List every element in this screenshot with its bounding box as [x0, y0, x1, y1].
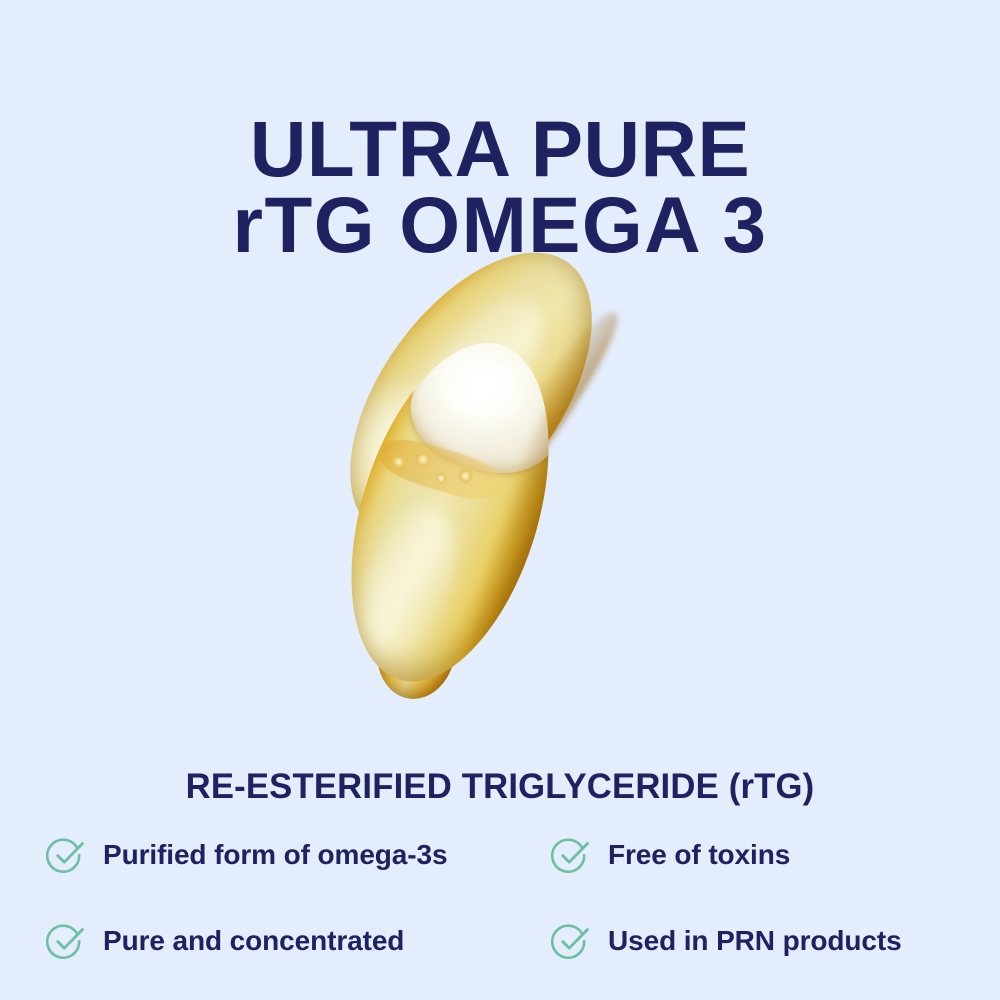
check-circle-icon — [46, 921, 86, 961]
benefit-item-4: Used in PRN products — [551, 921, 962, 961]
check-circle-icon — [551, 921, 591, 961]
benefit-item-1: Purified form of omega-3s — [46, 835, 551, 875]
product-info-graphic: ULTRA PURE rTG OMEGA 3 RE-ESTERIFIED TRI… — [0, 0, 1000, 1000]
benefit-item-2: Free of toxins — [551, 835, 962, 875]
headline-line-1: ULTRA PURE — [5, 111, 995, 187]
subtitle: RE-ESTERIFIED TRIGLYCERIDE (rTG) — [5, 767, 995, 807]
benefit-label: Pure and concentrated — [103, 925, 404, 957]
check-circle-icon — [46, 835, 86, 875]
capsule-stage — [330, 225, 710, 710]
capsule-front-highlight — [348, 495, 470, 666]
benefit-label: Used in PRN products — [608, 925, 902, 957]
product-image — [0, 225, 1000, 710]
benefits-list: Purified form of omega-3s Free of toxins… — [46, 812, 962, 984]
benefit-label: Purified form of omega-3s — [103, 839, 447, 871]
softgel-capsule-front-icon — [315, 319, 586, 705]
benefit-item-3: Pure and concentrated — [46, 921, 551, 961]
benefit-label: Free of toxins — [608, 839, 790, 871]
check-circle-icon — [551, 835, 591, 875]
